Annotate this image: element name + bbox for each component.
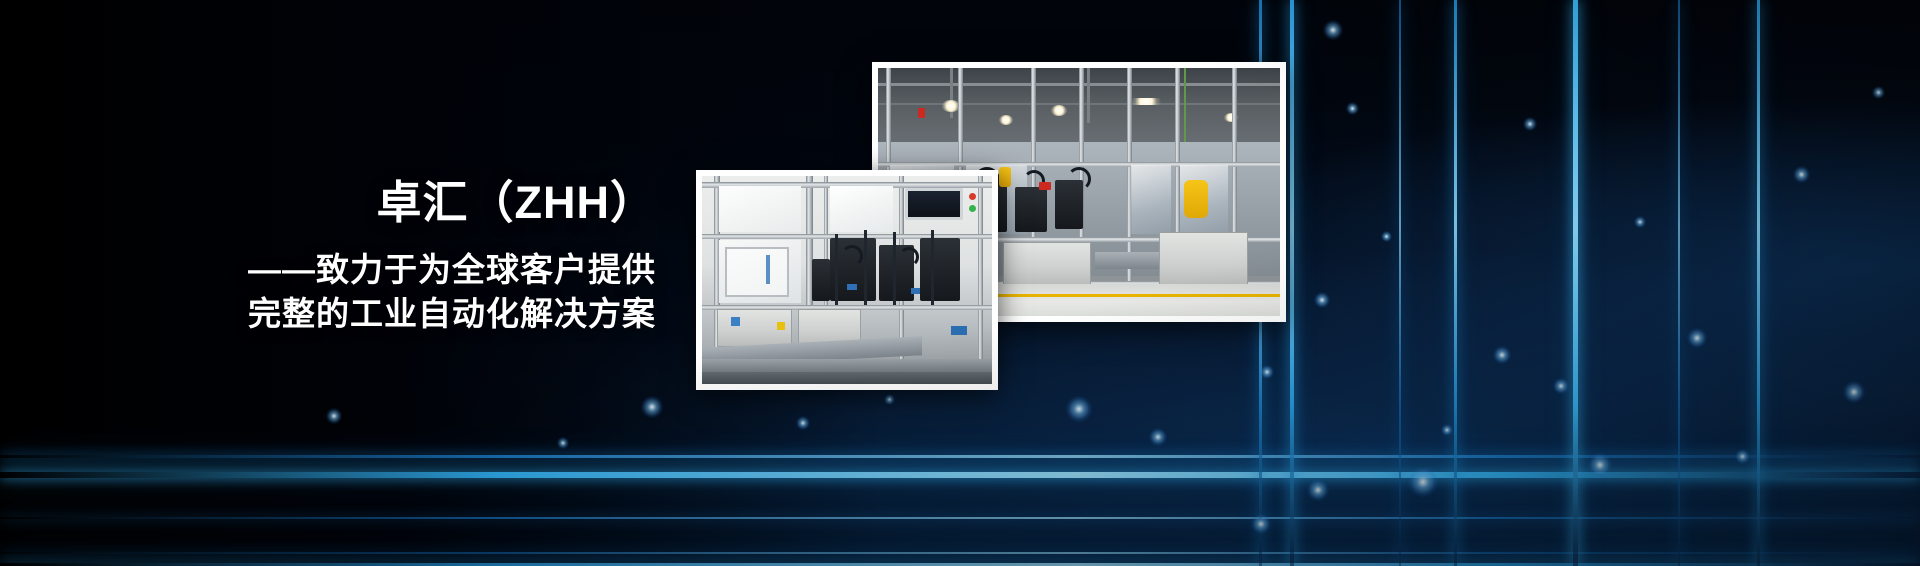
decor-vertical-line-1	[1290, 0, 1294, 566]
decor-vertical-line-6	[1757, 0, 1760, 566]
decor-glow-point-24	[1843, 381, 1865, 403]
hero-banner: 卓汇（ZHH） ——致力于为全球客户提供 完整的工业自动化解决方案	[0, 0, 1920, 566]
decor-horizontal-line-0	[0, 455, 1920, 458]
decor-glow-point-4	[884, 394, 895, 405]
headline-block: 卓汇（ZHH） ——致力于为全球客户提供 完整的工业自动化解决方案	[248, 178, 656, 336]
decor-vertical-line-2	[1399, 0, 1401, 566]
decor-glow-point-11	[1381, 231, 1392, 242]
decor-glow-point-0	[326, 408, 342, 424]
decor-glow-point-20	[1634, 216, 1646, 228]
decor-horizontal-line-2	[0, 517, 1920, 519]
decor-glow-point-8	[1323, 20, 1343, 40]
hmi-screen	[905, 188, 963, 219]
automation-assembly-line-photo-image	[702, 176, 992, 384]
decor-glow-point-7	[1260, 365, 1274, 379]
decor-glow-point-15	[1441, 424, 1453, 436]
decor-glow-point-1	[557, 437, 569, 449]
decor-glow-point-3	[796, 416, 810, 430]
automation-assembly-line-photo	[696, 170, 998, 390]
decor-horizontal-line-3	[0, 552, 1920, 554]
decor-glow-point-13	[1307, 479, 1329, 501]
decor-glow-point-23	[1793, 166, 1810, 183]
decor-glow-point-25	[1872, 86, 1885, 99]
decor-glow-point-18	[1553, 378, 1569, 394]
decor-vertical-line-3	[1454, 0, 1457, 566]
decor-glow-point-5	[1066, 396, 1092, 422]
decor-horizontal-line-1	[0, 472, 1920, 478]
decor-glow-point-6	[1149, 428, 1167, 446]
decor-glow-point-2	[641, 396, 663, 418]
decor-glow-point-9	[1346, 102, 1359, 115]
decor-glow-point-17	[1523, 117, 1537, 131]
decor-vertical-line-5	[1678, 0, 1680, 566]
page-title: 卓汇（ZHH）	[248, 178, 656, 228]
decor-glow-point-16	[1493, 346, 1511, 364]
subtitle-line-1: ——致力于为全球客户提供	[248, 248, 656, 292]
decor-vertical-line-4	[1573, 0, 1578, 566]
subtitle-line-2: 完整的工业自动化解决方案	[248, 292, 656, 336]
decor-glow-point-21	[1687, 328, 1707, 348]
decor-glow-point-10	[1314, 292, 1330, 308]
